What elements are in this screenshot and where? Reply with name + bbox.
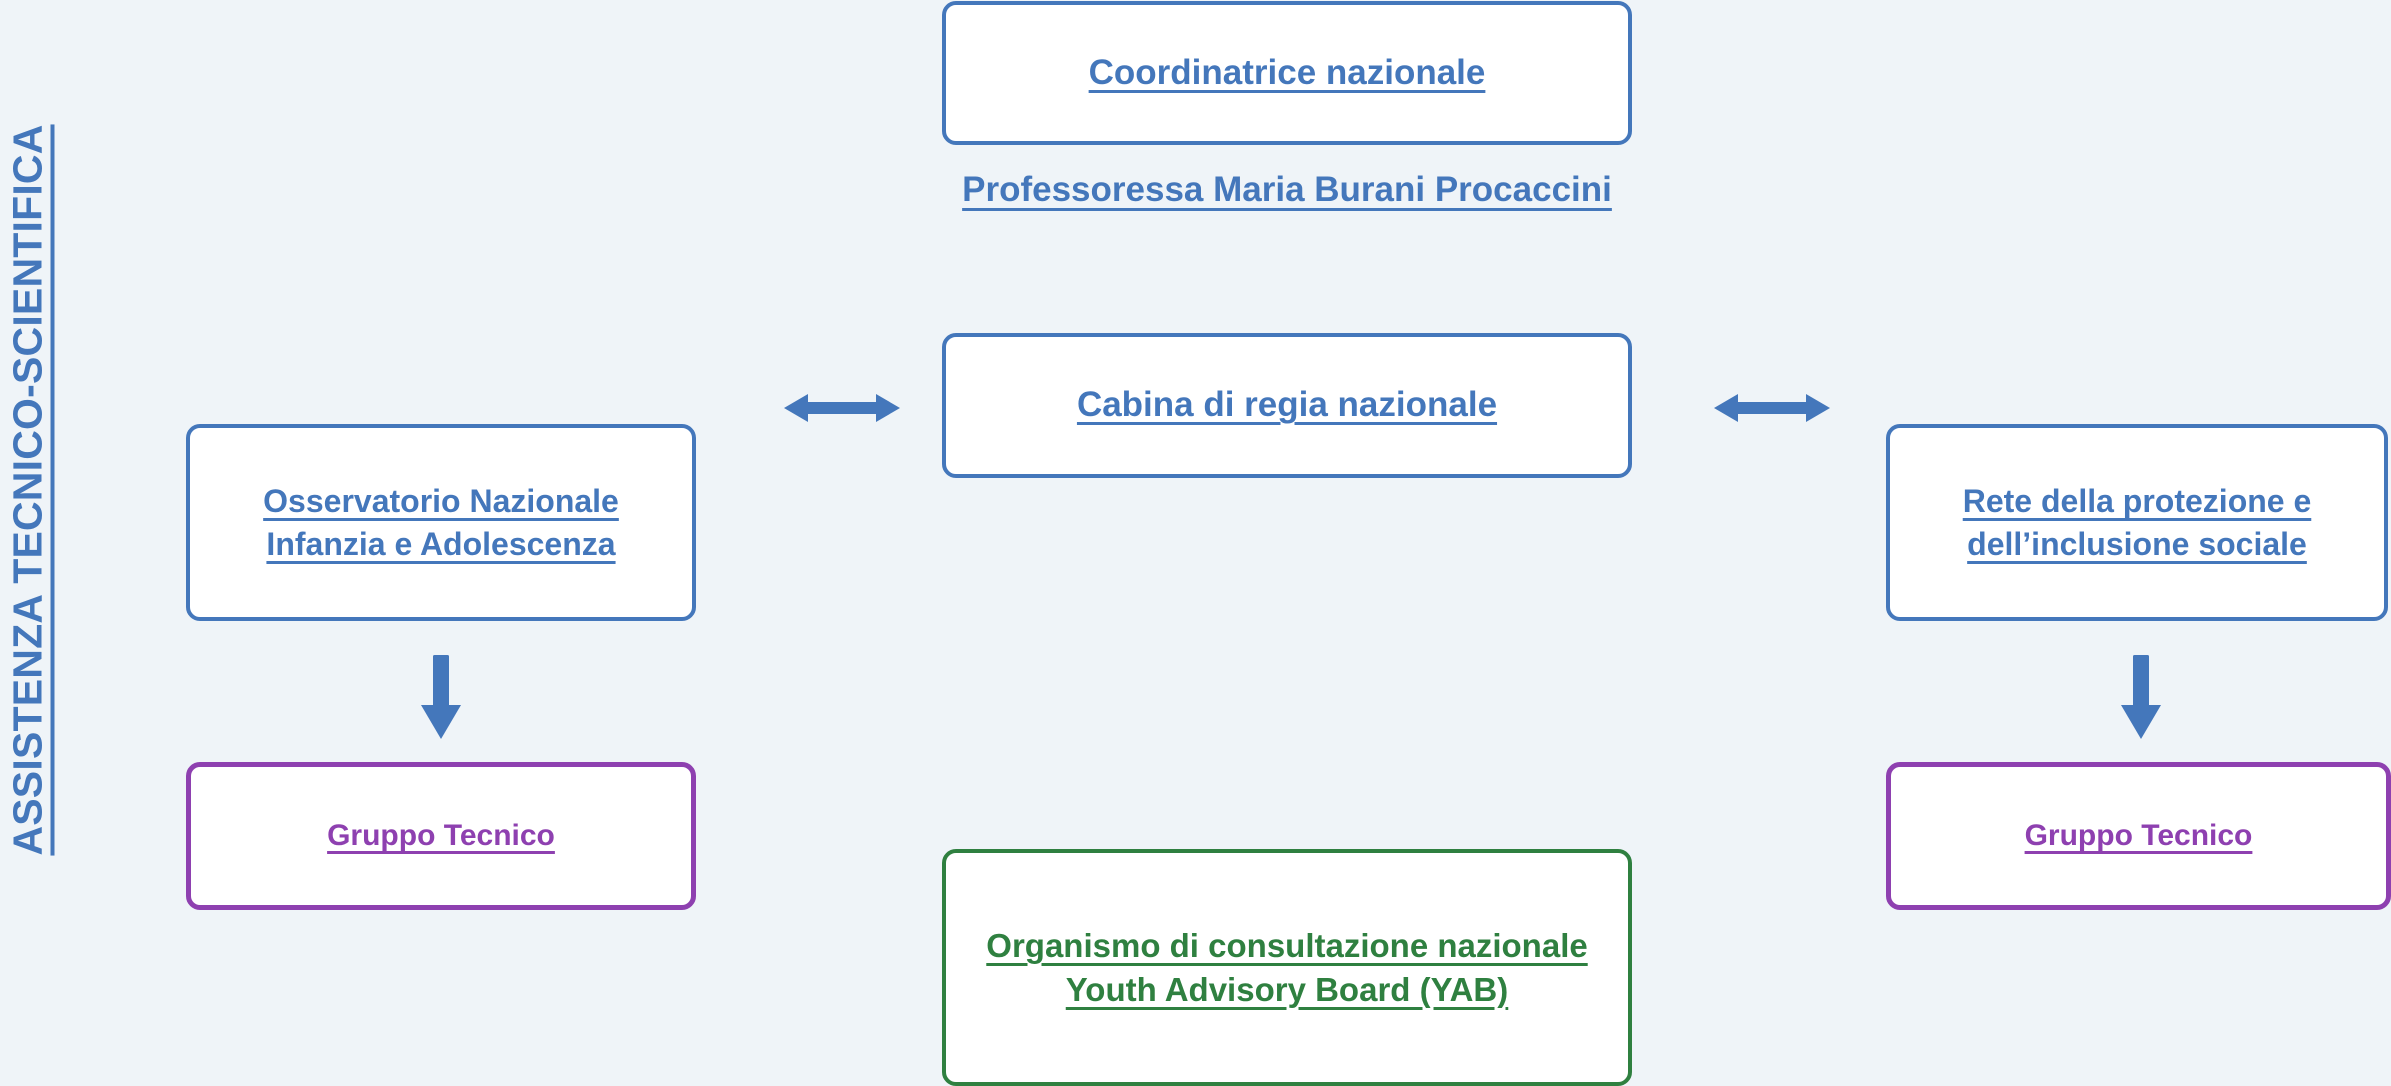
node-gruppo-tecnico-right-label: Gruppo Tecnico: [2009, 816, 2269, 856]
node-gruppo-tecnico-left-label: Gruppo Tecnico: [311, 816, 571, 856]
node-organismo-consultazione-yab[interactable]: Organismo di consultazione nazionale You…: [942, 849, 1632, 1086]
section-label-text: ASSISTENZA TECNICO-SCIENTIFICA: [5, 124, 52, 855]
node-organismo-consultazione-yab-label: Organismo di consultazione nazionale You…: [946, 924, 1628, 1011]
section-label-assistenza-tecnico-scientifica: ASSISTENZA TECNICO-SCIENTIFICA: [0, 90, 56, 890]
node-cabina-di-regia-nazionale-label: Cabina di regia nazionale: [1061, 382, 1513, 428]
node-coordinatrice-nazionale-label: Coordinatrice nazionale: [1073, 50, 1502, 96]
connector-cabina-osservatorio: [782, 385, 902, 431]
node-gruppo-tecnico-left[interactable]: Gruppo Tecnico: [186, 762, 696, 910]
coordinatrice-name-text: Professoressa Maria Burani Procaccini: [962, 170, 1612, 209]
connector-rete-gruppo-tecnico: [2110, 655, 2172, 741]
node-rete-protezione-inclusione-sociale[interactable]: Rete della protezione e dell’inclusione …: [1886, 424, 2388, 621]
node-gruppo-tecnico-right[interactable]: Gruppo Tecnico: [1886, 762, 2391, 910]
node-coordinatrice-nazionale[interactable]: Coordinatrice nazionale: [942, 1, 1632, 145]
node-osservatorio-label: Osservatorio Nazionale Infanzia e Adoles…: [190, 480, 692, 564]
double-headed-horizontal-arrow-icon: [1714, 394, 1830, 422]
double-headed-horizontal-arrow-icon: [784, 394, 900, 422]
connector-osservatorio-gruppo-tecnico: [410, 655, 472, 741]
connector-cabina-rete: [1712, 385, 1832, 431]
node-cabina-di-regia-nazionale[interactable]: Cabina di regia nazionale: [942, 333, 1632, 478]
arrow-down-icon: [421, 655, 461, 739]
diagram-canvas: ASSISTENZA TECNICO-SCIENTIFICA Coordinat…: [0, 0, 2391, 1086]
arrow-down-icon: [2121, 655, 2161, 739]
node-rete-label: Rete della protezione e dell’inclusione …: [1890, 480, 2384, 564]
node-osservatorio-nazionale-infanzia-adolescenza[interactable]: Osservatorio Nazionale Infanzia e Adoles…: [186, 424, 696, 621]
coordinatrice-name-caption: Professoressa Maria Burani Procaccini: [862, 170, 1712, 210]
